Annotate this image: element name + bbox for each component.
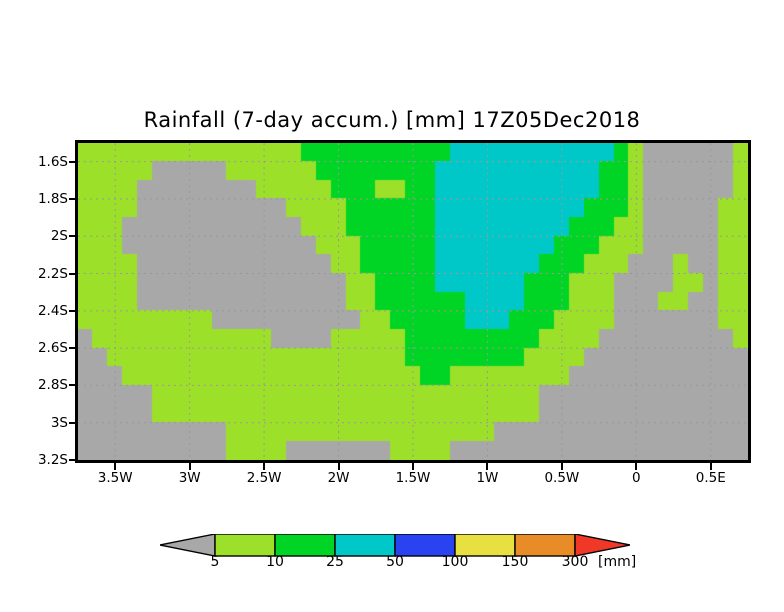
- y-tick-label: 2.4S: [38, 303, 68, 319]
- y-tick-mark: [69, 161, 78, 163]
- y-tick-mark: [69, 273, 78, 275]
- colorbar-segment: [515, 534, 575, 556]
- x-tick-mark: [263, 461, 265, 470]
- colorbar-segment: [275, 534, 335, 556]
- x-tick-label: 2W: [328, 470, 350, 486]
- colorbar-tick-label: 100: [442, 554, 469, 570]
- colorbar-segment: [215, 534, 275, 556]
- y-tick-label: 2.2S: [38, 266, 68, 282]
- x-tick-mark: [114, 461, 116, 470]
- x-tick-mark: [486, 461, 488, 470]
- colorbar-under-arrow: [160, 534, 215, 556]
- y-tick-mark: [69, 347, 78, 349]
- colorbar-tick-label: 25: [326, 554, 344, 570]
- y-tick-label: 1.6S: [38, 154, 68, 170]
- plot-area[interactable]: [75, 140, 751, 463]
- x-tick-label: 0: [632, 470, 641, 486]
- colorbar-over-arrow: [575, 534, 630, 556]
- colorbar-segment: [455, 534, 515, 556]
- colorbar-segment: [335, 534, 395, 556]
- x-tick-mark: [338, 461, 340, 470]
- y-tick-mark: [69, 422, 78, 424]
- figure-canvas: Rainfall (7-day accum.) [mm] 17Z05Dec201…: [0, 0, 784, 612]
- y-tick-label: 1.8S: [38, 191, 68, 207]
- x-tick-mark: [710, 461, 712, 470]
- x-tick-label: 1.5W: [396, 470, 431, 486]
- x-tick-label: 0.5W: [544, 470, 579, 486]
- colorbar-tick-label: 5: [211, 554, 220, 570]
- y-tick-mark: [69, 384, 78, 386]
- x-tick-label: 0.5E: [696, 470, 726, 486]
- colorbar-tick-label: 10: [266, 554, 284, 570]
- y-tick-mark: [69, 310, 78, 312]
- colorbar-tick-label: 50: [386, 554, 404, 570]
- y-tick-label: 3S: [51, 415, 68, 431]
- colorbar-segment: [395, 534, 455, 556]
- y-tick-label: 2.6S: [38, 340, 68, 356]
- y-axis-tick-labels: 1.6S1.8S2S2.2S2.4S2.6S2.8S3S3.2S: [0, 0, 68, 612]
- x-tick-label: 2.5W: [247, 470, 282, 486]
- x-tick-mark: [635, 461, 637, 470]
- colorbar-tick-label: 150: [502, 554, 529, 570]
- x-tick-label: 1W: [476, 470, 498, 486]
- x-tick-mark: [189, 461, 191, 470]
- y-tick-label: 2.8S: [38, 377, 68, 393]
- y-tick-mark: [69, 198, 78, 200]
- x-tick-mark: [561, 461, 563, 470]
- colorbar-tick-label: 300: [562, 554, 589, 570]
- y-tick-mark: [69, 459, 78, 461]
- rainfall-heatmap[interactable]: [78, 143, 748, 460]
- x-tick-label: 3W: [179, 470, 201, 486]
- colorbar-units-label: [mm]: [598, 554, 636, 570]
- y-tick-label: 2S: [51, 228, 68, 244]
- y-tick-mark: [69, 235, 78, 237]
- x-tick-mark: [412, 461, 414, 470]
- page-title: Rainfall (7-day accum.) [mm] 17Z05Dec201…: [0, 108, 784, 132]
- y-tick-label: 3.2S: [38, 452, 68, 468]
- x-tick-label: 3.5W: [98, 470, 133, 486]
